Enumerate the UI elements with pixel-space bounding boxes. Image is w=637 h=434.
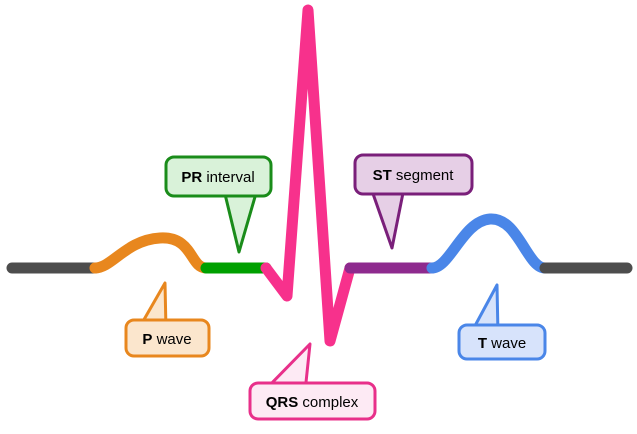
callout-st-segment[interactable]: ST segment [355,155,472,248]
st-segment-callout-tail [371,188,404,248]
callout-t-wave[interactable]: T wave [459,285,545,359]
qrs-complex-segment [266,10,350,341]
st-segment-label-normal: segment [392,167,455,184]
st-segment-label-bold: ST [373,167,392,184]
pr-interval-callout-label: PR interval [181,169,254,186]
ecg-trace [12,10,627,341]
qrs-complex-label-normal: complex [298,394,359,411]
qrs-complex-callout-label: QRS complex [266,394,359,411]
pr-interval-label-bold: PR [181,169,202,186]
qrs-complex-label-bold: QRS [266,394,299,411]
p-wave-segment [95,238,206,268]
p-wave-label-bold: P [142,331,152,348]
t-wave-segment [432,219,545,268]
st-segment-callout-label: ST segment [373,167,455,184]
callout-p-wave[interactable]: P wave [126,283,209,356]
pr-interval-callout-tail [224,190,257,252]
t-wave-label-normal: wave [487,335,526,352]
callout-qrs-complex[interactable]: QRS complex [250,344,375,419]
p-wave-label-normal: wave [152,331,191,348]
ecg-waveform-diagram: PR interval ST segment P wave QRS comple… [0,0,637,434]
pr-interval-label-normal: interval [202,169,255,186]
p-wave-callout-label: P wave [142,331,191,348]
t-wave-label-bold: T [478,335,487,352]
t-wave-callout-label: T wave [478,335,526,352]
